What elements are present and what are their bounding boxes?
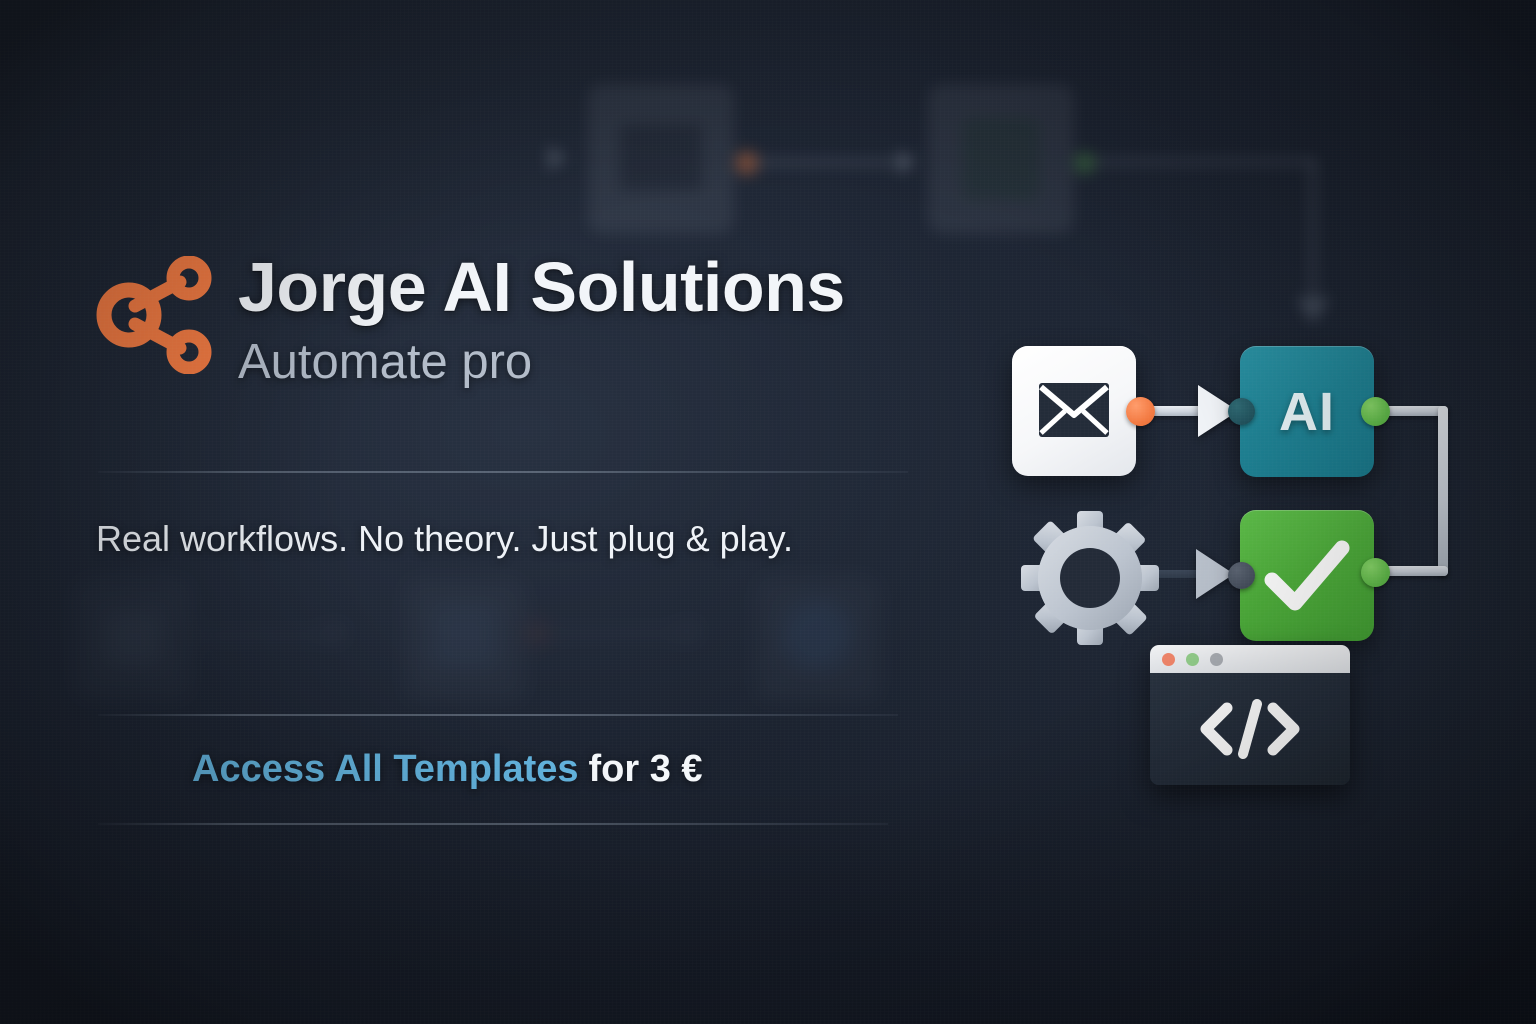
brand-lockup: Jorge AI Solutions Automate pro [94, 252, 845, 387]
node-ai-label: AI [1240, 346, 1374, 477]
hero-banner: Jorge AI Solutions Automate pro Real wor… [0, 0, 1536, 1024]
port-ai-input[interactable] [1228, 398, 1255, 425]
port-check-input[interactable] [1228, 562, 1255, 589]
traffic-light-green-icon[interactable] [1186, 653, 1199, 666]
node-mail[interactable] [1012, 346, 1136, 476]
port-check-output[interactable] [1361, 558, 1390, 587]
ghost-checkmark-icon [962, 118, 1040, 200]
envelope-icon [1038, 382, 1110, 438]
traffic-light-gray-icon[interactable] [1210, 653, 1223, 666]
port-ai-output[interactable] [1361, 397, 1390, 426]
tagline: Real workflows. No theory. Just plug & p… [96, 518, 793, 560]
ghost-cable [1094, 159, 1316, 165]
workflow-diagram: AI [990, 320, 1480, 810]
divider-middle [98, 714, 898, 716]
page-title: Jorge AI Solutions [238, 252, 845, 322]
node-ai[interactable]: AI [1240, 346, 1374, 477]
hero-content: Jorge AI Solutions Automate pro Real wor… [94, 0, 934, 1024]
traffic-light-red-icon[interactable] [1162, 653, 1175, 666]
divider-top [98, 471, 908, 473]
port-mail-output[interactable] [1126, 397, 1155, 426]
brand-text-block: Jorge AI Solutions Automate pro [238, 252, 845, 387]
brand-subtitle: Automate pro [238, 338, 845, 387]
cta-price-text: for 3 € [589, 748, 703, 790]
cta-highlight-text[interactable]: Access All Templates [192, 748, 579, 790]
divider-bottom [98, 823, 888, 825]
ghost-cable [1310, 159, 1316, 301]
ghost-node-check [928, 84, 1074, 234]
ghost-port-green [1074, 152, 1096, 174]
gear-icon[interactable] [1020, 510, 1160, 646]
share-network-icon [94, 256, 218, 374]
node-check[interactable] [1240, 510, 1374, 641]
code-brackets-icon [1197, 698, 1303, 760]
code-window-body [1150, 673, 1350, 785]
checkmark-icon [1262, 534, 1352, 618]
cable-loop-right [1438, 406, 1448, 576]
node-code-window[interactable] [1150, 645, 1350, 785]
code-window-titlebar [1150, 645, 1350, 673]
cta-line[interactable]: Access All Templatesfor 3 € [192, 748, 703, 791]
